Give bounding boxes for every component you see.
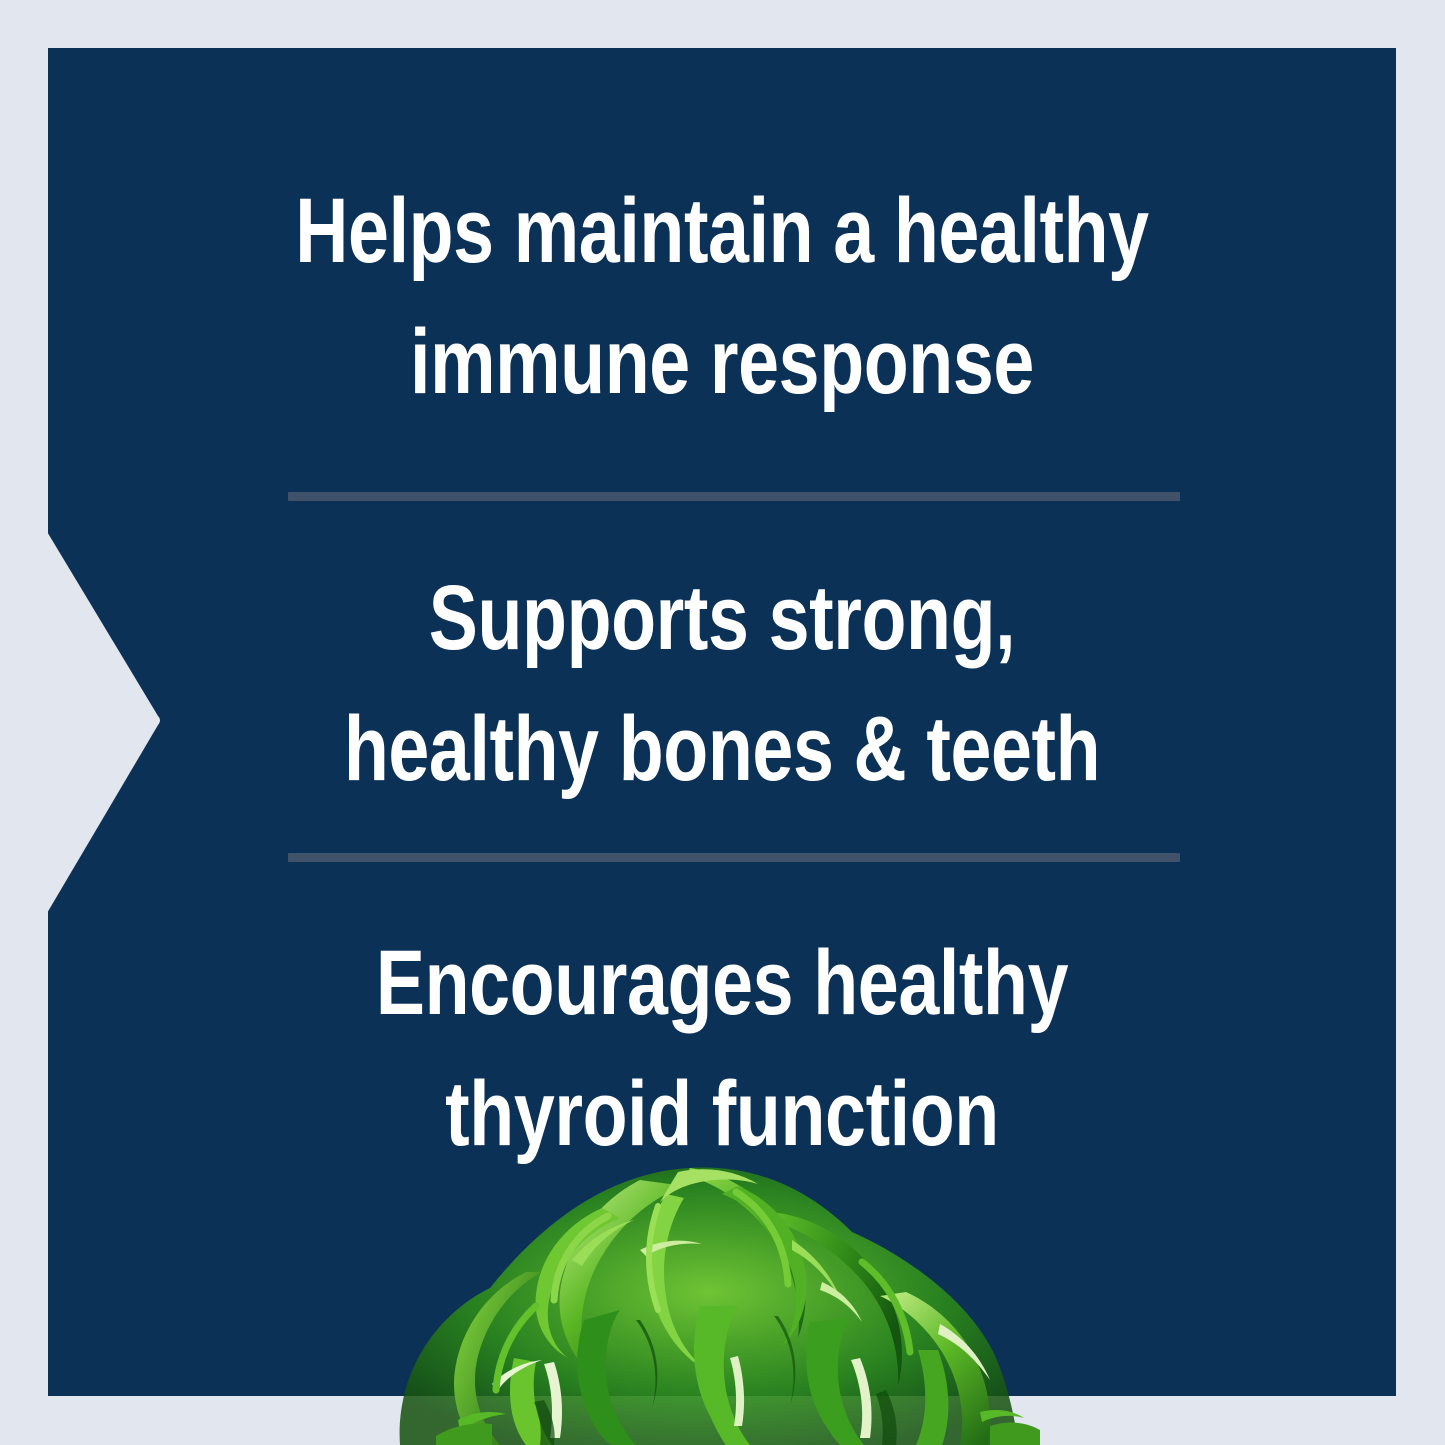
claim-bones: Supports strong, healthy bones & teeth	[183, 553, 1261, 814]
promo-panel-root: Helps maintain a healthy immune response…	[0, 0, 1445, 1445]
seaweed-salad-photo	[340, 1120, 1080, 1445]
claim-immune: Helps maintain a healthy immune response	[183, 166, 1261, 427]
divider-2	[288, 853, 1180, 862]
divider-1	[288, 492, 1180, 501]
